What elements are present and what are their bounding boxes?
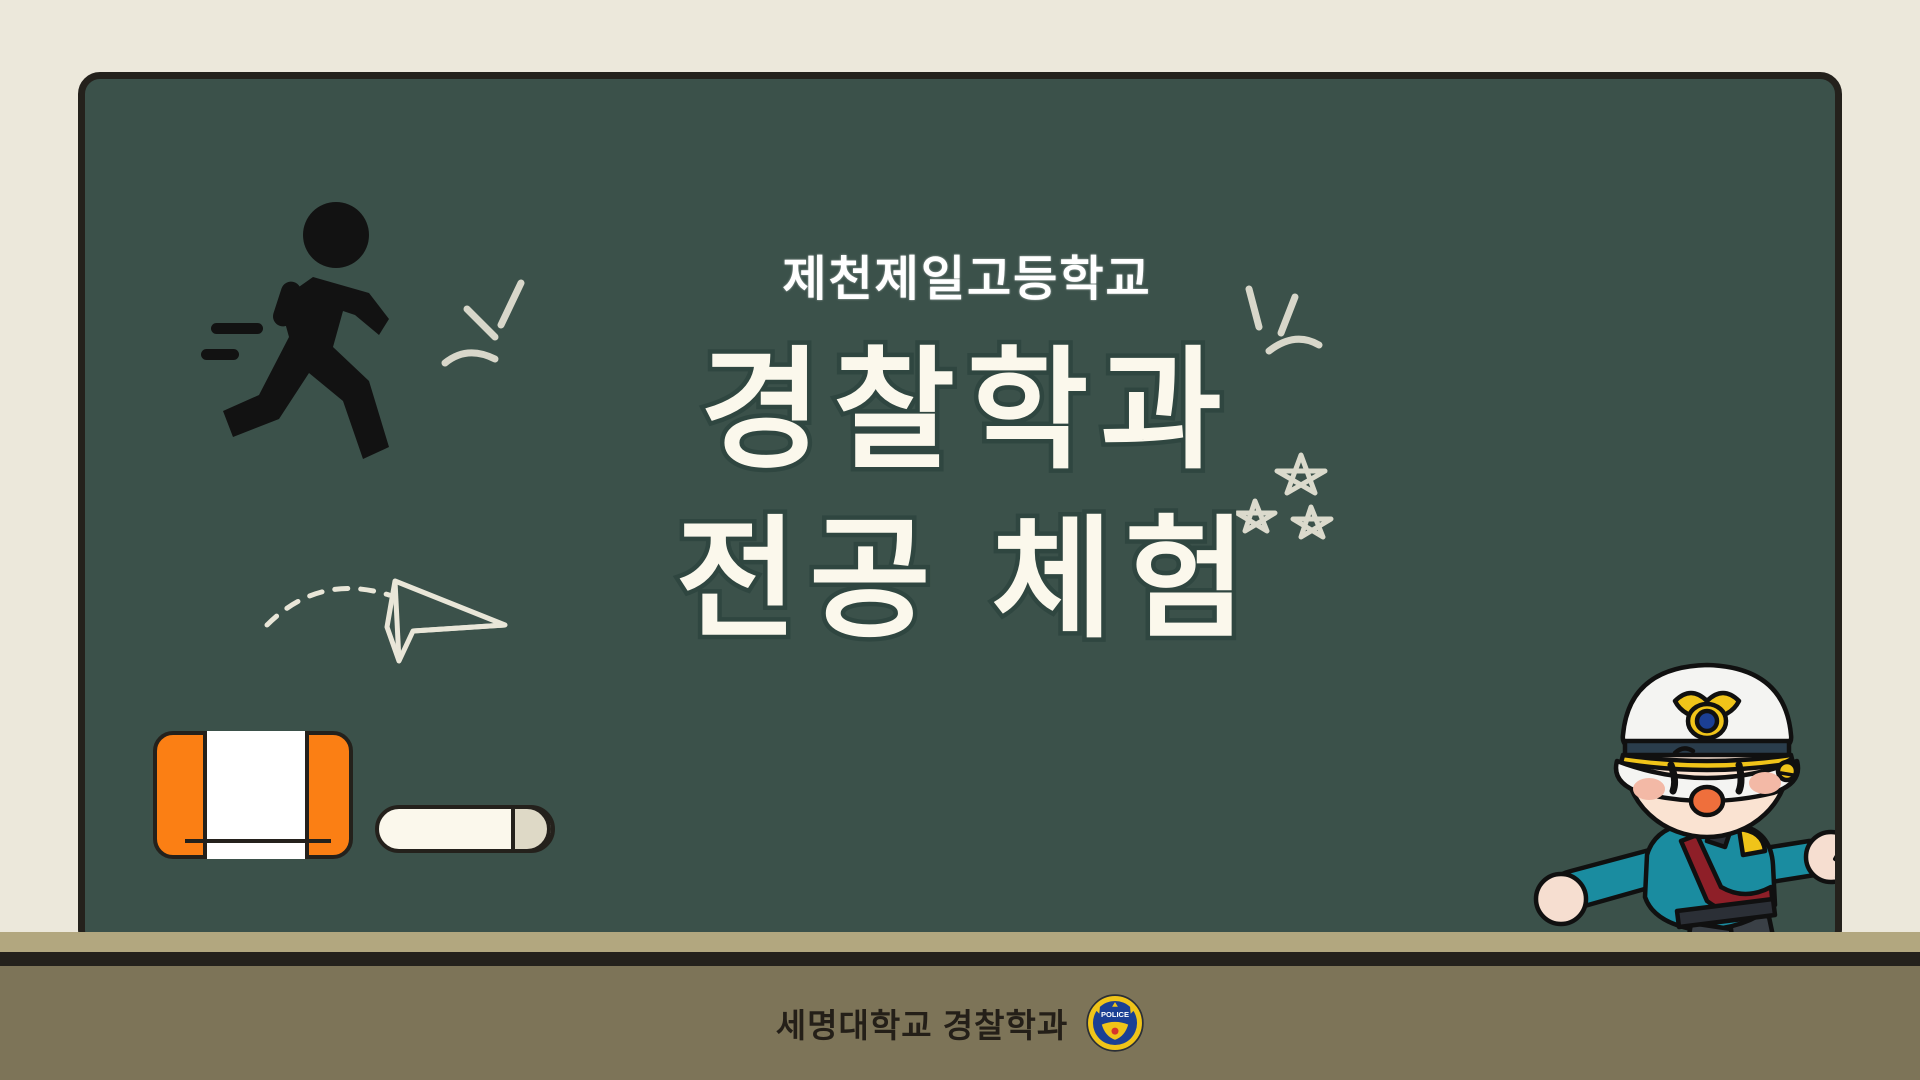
chalk-stick [375,805,555,853]
eraser-shadow-line [185,839,331,843]
poster-canvas: 제천제일고등학교 경찰학과 전공 체험 [0,0,1920,1080]
chalk-tray-shadow [0,952,1920,966]
title-line-2: 전공 체험 [85,496,1842,665]
chalk-stars-icon [1225,449,1355,559]
police-badge-icon: POLICE [1086,994,1144,1052]
svg-text:POLICE: POLICE [1101,1010,1129,1019]
police-officer-character [1525,649,1842,952]
running-man-icon [193,197,423,477]
chalkboard: 제천제일고등학교 경찰학과 전공 체험 [78,72,1842,952]
chalk-sparkle-right-icon [1215,279,1345,389]
footer-department-label: 세명대학교 경찰학과 [776,999,1068,1047]
chalk-sparkle-left-icon [437,275,557,385]
blackboard-eraser [153,731,353,859]
chalk-tray [0,932,1920,954]
chalk-paper-plane-icon [263,569,513,669]
footer-bar: 세명대학교 경찰학과 POLICE [0,966,1920,1080]
chalk-stick-end [511,805,551,853]
